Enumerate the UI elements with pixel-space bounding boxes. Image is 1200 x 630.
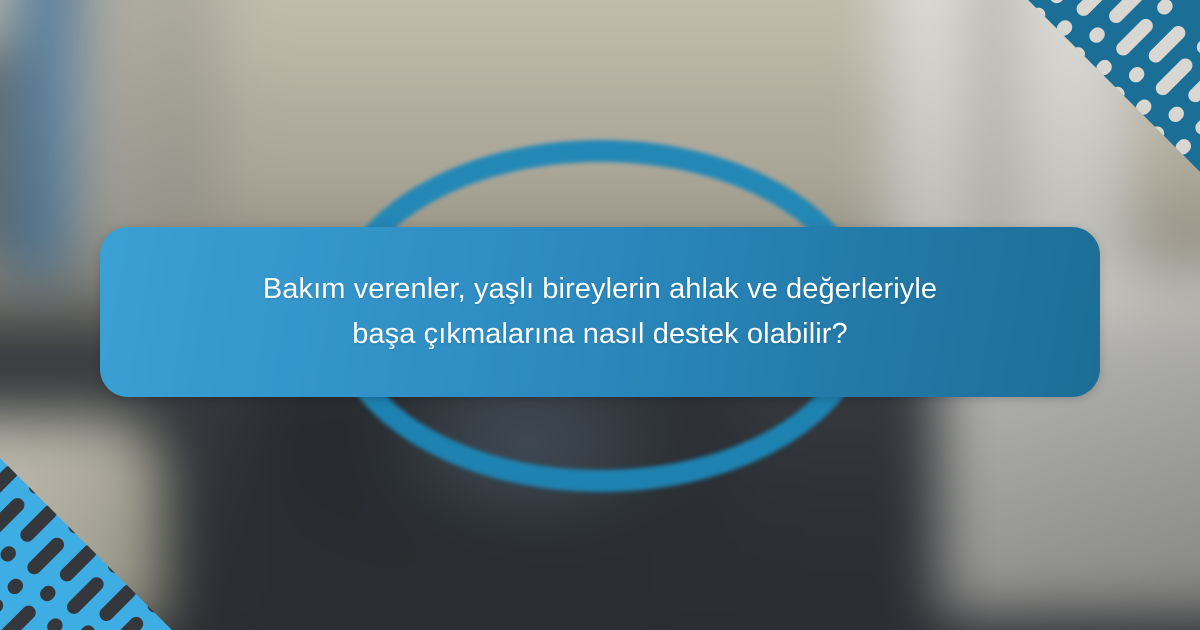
question-card: Bakım verenler, yaşlı bireylerin ahlak v… (100, 227, 1100, 397)
page-title: Bakım verenler, yaşlı bireylerin ahlak v… (263, 267, 937, 357)
share-card-canvas: Bakım verenler, yaşlı bireylerin ahlak v… (0, 0, 1200, 630)
page-title-line-1: Bakım verenler, yaşlı bireylerin ahlak v… (263, 267, 937, 312)
background-bed-rail (0, 416, 165, 628)
page-title-line-2: başa çıkmalarına nasıl destek olabilir? (263, 312, 937, 357)
